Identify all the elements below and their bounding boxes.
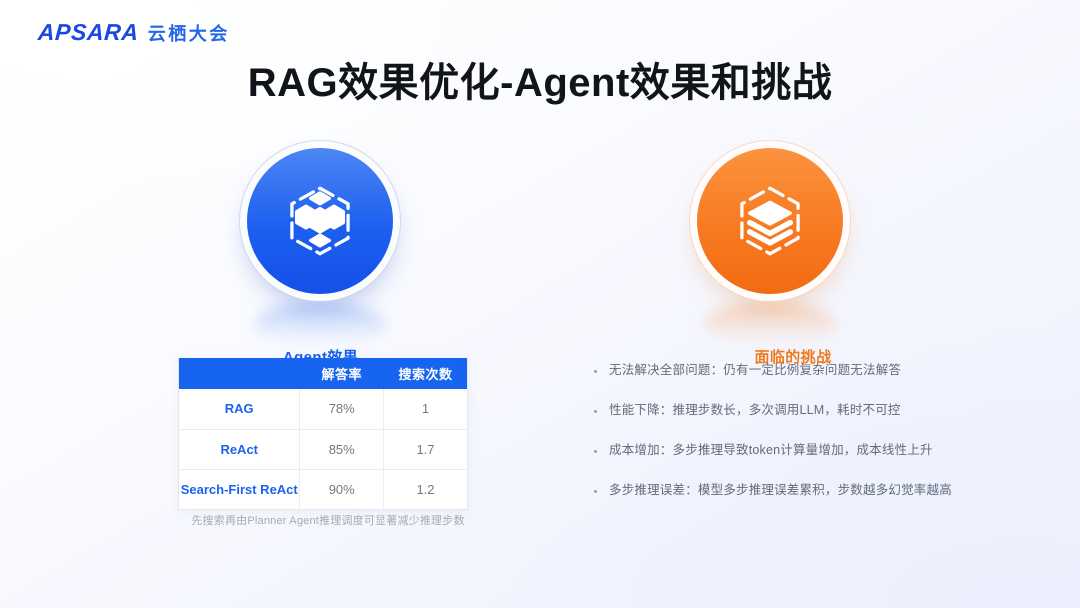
table-row: RAG 78% 1 — [179, 389, 467, 429]
row-searches: 1 — [383, 389, 467, 429]
row-rate: 78% — [300, 389, 384, 429]
list-item-text: 无法解决全部问题：仍有一定比例复杂问题无法解答 — [609, 362, 901, 379]
table-footnote: 先搜索再由Planner Agent推理调度可显著减少推理步数 — [178, 512, 478, 528]
agent-metrics-table: 解答率 搜索次数 RAG 78% 1 ReAct 85% 1.7 Search-… — [178, 358, 468, 510]
logo-wordmark: APSARA — [37, 19, 140, 46]
table-row: ReAct 85% 1.7 — [179, 429, 467, 469]
list-item: 成本增加：多步推理导致token计算量增加，成本线性上升 — [594, 442, 1024, 459]
row-searches: 1.2 — [383, 469, 467, 509]
list-item: 性能下降：推理步数长，多次调用LLM，耗时不可控 — [594, 402, 1024, 419]
bullet-dot-icon — [594, 490, 597, 493]
list-item: 多步推理误差：模型多步推理误差累积，步数越多幻觉率越高 — [594, 482, 1024, 499]
challenges-list: 无法解决全部问题：仍有一定比例复杂问题无法解答 性能下降：推理步数长，多次调用L… — [594, 362, 1024, 522]
row-rate: 90% — [300, 469, 384, 509]
list-item: 无法解决全部问题：仍有一定比例复杂问题无法解答 — [594, 362, 1024, 379]
bullet-dot-icon — [594, 450, 597, 453]
cube-cluster-icon — [281, 182, 359, 260]
apsara-logo: APSARA 云栖大会 — [38, 19, 230, 46]
list-item-text: 性能下降：推理步数长，多次调用LLM，耗时不可控 — [609, 402, 901, 419]
stacked-layers-icon — [731, 182, 809, 260]
row-rate: 85% — [300, 429, 384, 469]
logo-chinese-name: 云栖大会 — [148, 20, 230, 46]
row-searches: 1.7 — [383, 429, 467, 469]
left-badge-wrap — [128, 140, 513, 340]
table-header-row: 解答率 搜索次数 — [179, 358, 467, 389]
list-item-text: 多步推理误差：模型多步推理误差累积，步数越多幻觉率越高 — [609, 482, 952, 499]
left-column: Agent效果 — [128, 140, 513, 367]
bullet-dot-icon — [594, 410, 597, 413]
row-method-name: RAG — [179, 389, 300, 429]
right-badge-wrap — [540, 140, 1010, 340]
row-method-name: Search-First ReAct — [179, 469, 300, 509]
orange-badge-reflection — [704, 302, 836, 346]
right-column: 面临的挑战 — [540, 140, 1010, 367]
col-header-rate: 解答率 — [300, 358, 384, 389]
agent-effect-badge — [247, 148, 393, 294]
table-row: Search-First ReAct 90% 1.2 — [179, 469, 467, 509]
slide-root: { "logo": { "word": "APSARA", "cn": "云栖大… — [0, 0, 1080, 608]
bullet-dot-icon — [594, 370, 597, 373]
row-method-name: ReAct — [179, 429, 300, 469]
col-header-method — [179, 358, 300, 389]
col-header-searches: 搜索次数 — [383, 358, 467, 389]
blue-badge-reflection — [254, 302, 386, 346]
page-title: RAG效果优化-Agent效果和挑战 — [0, 50, 1080, 108]
list-item-text: 成本增加：多步推理导致token计算量增加，成本线性上升 — [609, 442, 933, 459]
challenges-badge — [697, 148, 843, 294]
